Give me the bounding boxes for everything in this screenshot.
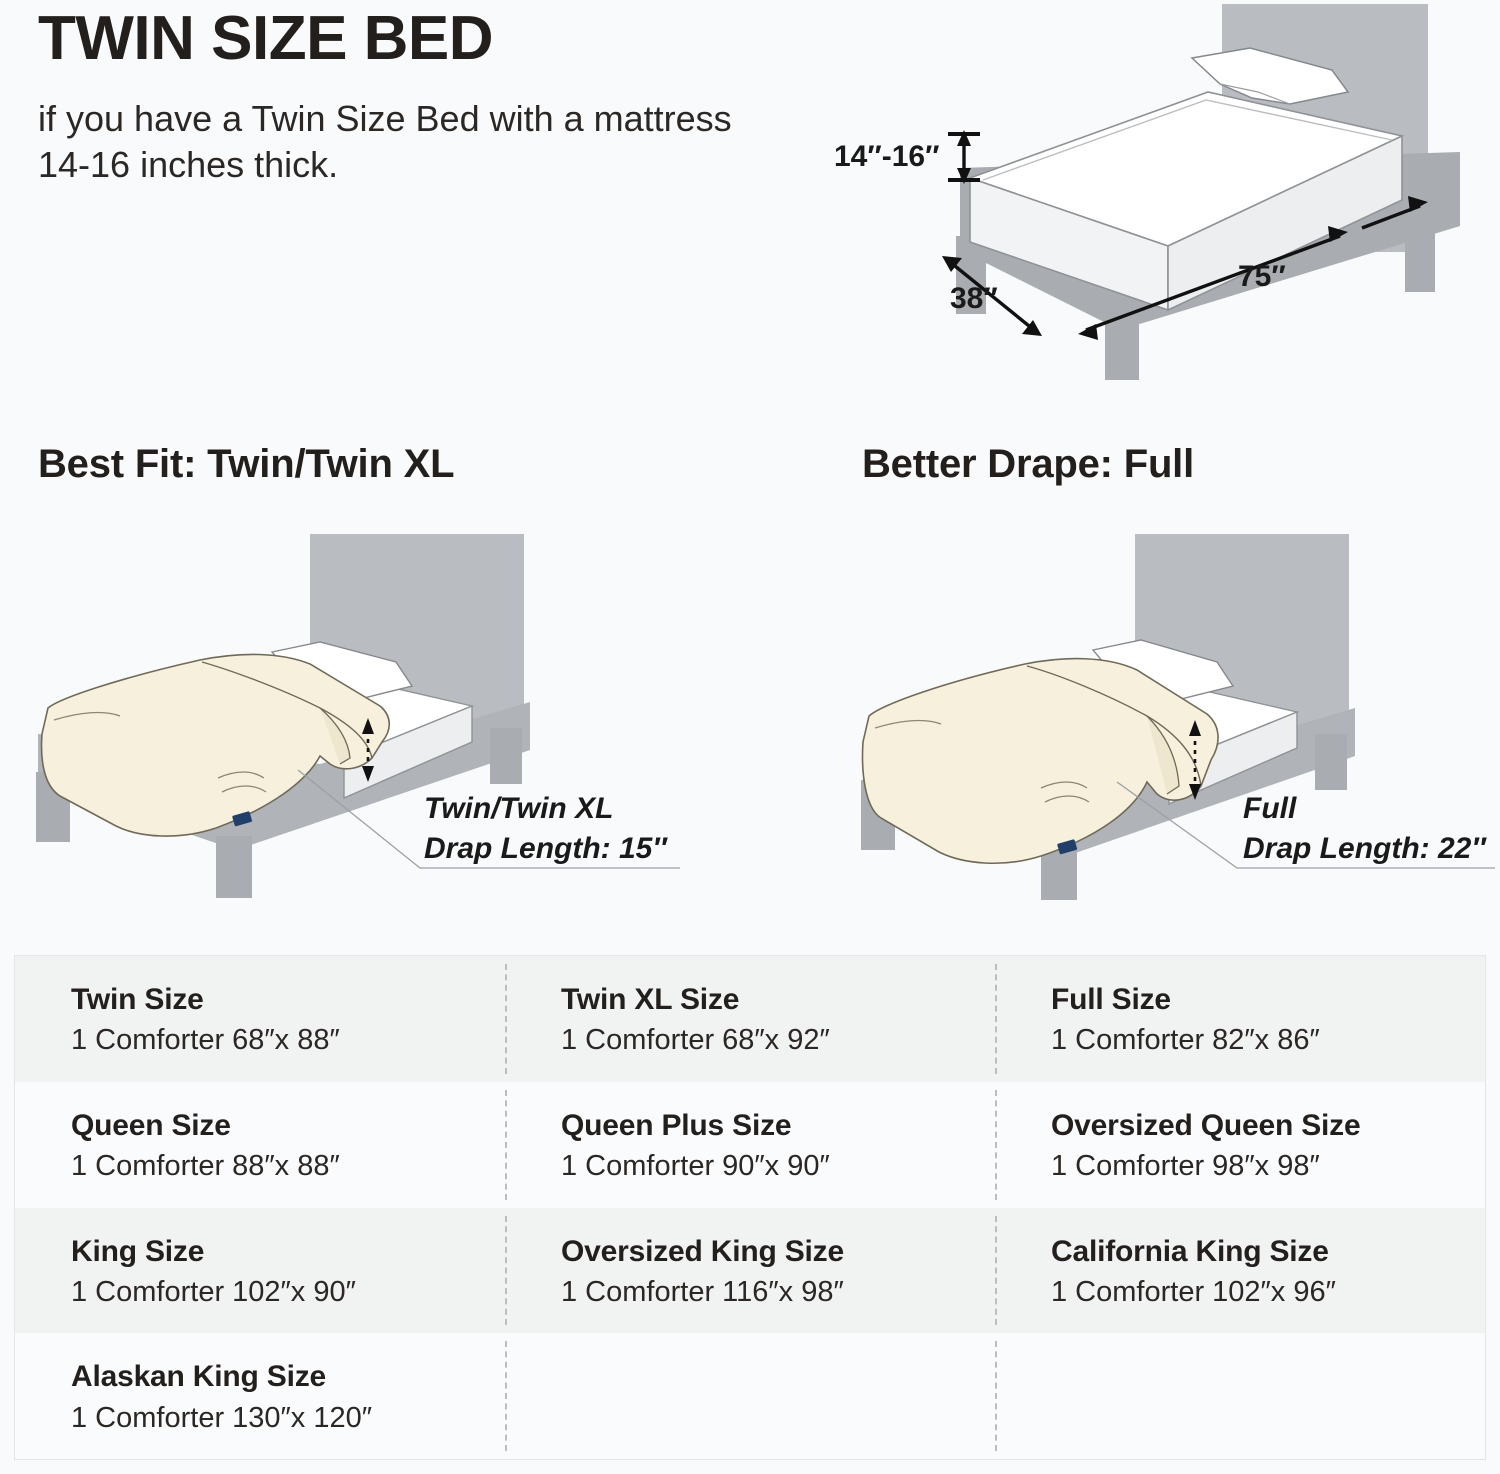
cell-description: 1 Comforter 82″x 86″ xyxy=(1051,1023,1485,1058)
cell-title: King Size xyxy=(71,1234,505,1269)
section-heading-best-fit: Best Fit: Twin/Twin XL xyxy=(38,442,454,487)
length-dimension-label: 75″ xyxy=(1238,260,1286,293)
bed-leg-back-right xyxy=(1315,734,1347,790)
table-cell-empty-right xyxy=(995,1333,1485,1459)
cell-description: 1 Comforter 68″x 92″ xyxy=(561,1023,995,1058)
cell-title: Alaskan King Size xyxy=(71,1359,505,1394)
table-cell-queen-plus: Queen Plus Size 1 Comforter 90″x 90″ xyxy=(505,1082,995,1208)
cell-title: Oversized Queen Size xyxy=(1051,1108,1485,1143)
section-heading-better-drape: Better Drape: Full xyxy=(862,442,1194,487)
cell-description: 1 Comforter 102″x 90″ xyxy=(71,1275,505,1310)
twin-xl-drape-illustration: Twin/Twin XL Drap Length: 15″ xyxy=(20,520,720,900)
hero-text-block: TWIN SIZE BED if you have a Twin Size Be… xyxy=(38,8,738,188)
cell-description: 1 Comforter 102″x 96″ xyxy=(1051,1275,1485,1310)
table-cell-queen: Queen Size 1 Comforter 88″x 88″ xyxy=(15,1082,505,1208)
bed-leg-back-right xyxy=(1405,232,1435,292)
cell-description: 1 Comforter 90″x 90″ xyxy=(561,1149,995,1184)
cell-title: Queen Size xyxy=(71,1108,505,1143)
table-row: Alaskan King Size 1 Comforter 130″x 120″ xyxy=(15,1333,1485,1459)
width-dimension-label: 38″ xyxy=(950,282,998,315)
cell-description: 1 Comforter 98″x 98″ xyxy=(1051,1149,1485,1184)
bed-leg-front-right xyxy=(216,836,252,898)
page-title: TWIN SIZE BED xyxy=(38,8,738,70)
bed-dimension-svg: 14″-16″ 38″ 75″ xyxy=(820,0,1500,380)
twin-bed-dimension-diagram: 14″-16″ 38″ 75″ xyxy=(820,0,1500,380)
cell-description: 1 Comforter 88″x 88″ xyxy=(71,1149,505,1184)
cell-description: 1 Comforter 130″x 120″ xyxy=(71,1401,505,1436)
full-drape-illustration: Full Drap Length: 22″ xyxy=(845,520,1500,900)
cell-title: Oversized King Size xyxy=(561,1234,995,1269)
twin-drape-svg: Twin/Twin XL Drap Length: 15″ xyxy=(20,520,720,900)
comforter-size-table: Twin Size 1 Comforter 68″x 88″ Twin XL S… xyxy=(14,955,1486,1460)
table-cell-full: Full Size 1 Comforter 82″x 86″ xyxy=(995,956,1485,1082)
infographic-page: TWIN SIZE BED if you have a Twin Size Be… xyxy=(0,0,1500,1474)
table-cell-twin: Twin Size 1 Comforter 68″x 88″ xyxy=(15,956,505,1082)
table-cell-california-king: California King Size 1 Comforter 102″x 9… xyxy=(995,1208,1485,1334)
cell-title: Full Size xyxy=(1051,982,1485,1017)
table-row: Queen Size 1 Comforter 88″x 88″ Queen Pl… xyxy=(15,1082,1485,1208)
cell-title: Twin XL Size xyxy=(561,982,995,1017)
cell-description: 1 Comforter 116″x 98″ xyxy=(561,1275,995,1310)
table-cell-alaskan-king: Alaskan King Size 1 Comforter 130″x 120″ xyxy=(15,1333,505,1459)
full-drape-svg: Full Drap Length: 22″ xyxy=(845,520,1500,900)
cell-title: Twin Size xyxy=(71,982,505,1017)
table-cell-oversized-queen: Oversized Queen Size 1 Comforter 98″x 98… xyxy=(995,1082,1485,1208)
callout-line-2: Drap Length: 22″ xyxy=(1243,832,1487,865)
height-dimension-label: 14″-16″ xyxy=(834,140,939,173)
table-row: Twin Size 1 Comforter 68″x 88″ Twin XL S… xyxy=(15,956,1485,1082)
table-cell-oversized-king: Oversized King Size 1 Comforter 116″x 98… xyxy=(505,1208,995,1334)
table-cell-twin-xl: Twin XL Size 1 Comforter 68″x 92″ xyxy=(505,956,995,1082)
callout-line-1: Full xyxy=(1243,792,1297,825)
cell-description: 1 Comforter 68″x 88″ xyxy=(71,1023,505,1058)
cell-title: California King Size xyxy=(1051,1234,1485,1269)
table-cell-empty-middle xyxy=(505,1333,995,1459)
table-row: King Size 1 Comforter 102″x 90″ Oversize… xyxy=(15,1208,1485,1334)
bed-leg-back-right xyxy=(490,728,522,784)
callout-line-2: Drap Length: 15″ xyxy=(424,832,668,865)
cell-title: Queen Plus Size xyxy=(561,1108,995,1143)
callout-line-1: Twin/Twin XL xyxy=(424,792,613,825)
hero-subtitle: if you have a Twin Size Bed with a mattr… xyxy=(38,96,738,188)
table-cell-king: King Size 1 Comforter 102″x 90″ xyxy=(15,1208,505,1334)
